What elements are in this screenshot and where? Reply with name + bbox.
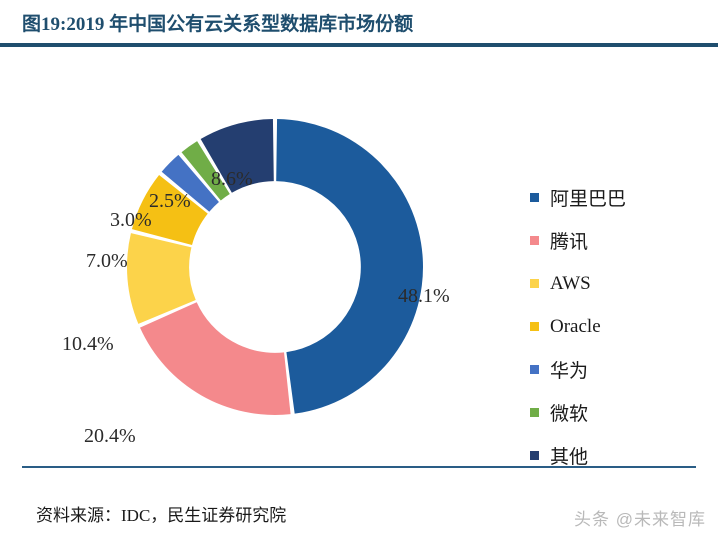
data-label: 20.4% <box>84 425 136 448</box>
donut-slice[interactable] <box>276 119 423 414</box>
chart-area: 48.1%20.4%10.4%7.0%3.0%2.5%8.6% 阿里巴巴腾讯AW… <box>0 50 718 458</box>
data-label: 10.4% <box>62 333 114 356</box>
title-divider <box>0 43 718 47</box>
donut-chart-svg <box>120 112 430 422</box>
legend-swatch-icon <box>530 451 539 460</box>
legend-item-label: AWS <box>550 273 591 295</box>
legend-item[interactable]: 腾讯 <box>530 219 700 262</box>
legend-swatch-icon <box>530 408 539 417</box>
legend-item[interactable]: 微软 <box>530 391 700 434</box>
watermark: 头条 @未来智库 <box>574 505 706 530</box>
legend-item-label: 其他 <box>550 442 588 469</box>
page-title: 图19:2019 年中国公有云关系型数据库市场份额 <box>22 9 413 36</box>
data-label: 7.0% <box>86 250 128 273</box>
bottom-band <box>0 535 718 544</box>
legend-item-label: 微软 <box>550 399 588 426</box>
footer-divider <box>22 466 696 468</box>
legend-item-label: 阿里巴巴 <box>550 184 626 211</box>
donut-slice[interactable] <box>140 302 291 415</box>
data-label: 2.5% <box>149 190 191 213</box>
legend-swatch-icon <box>530 279 539 288</box>
legend-swatch-icon <box>530 236 539 245</box>
legend-item[interactable]: 其他 <box>530 434 700 477</box>
legend-item-label: 腾讯 <box>550 227 588 254</box>
data-label: 48.1% <box>398 285 450 308</box>
legend-item-label: Oracle <box>550 316 601 338</box>
legend-swatch-icon <box>530 322 539 331</box>
donut-slice-group <box>127 119 423 415</box>
data-label: 3.0% <box>110 209 152 232</box>
title-block: 图19:2019 年中国公有云关系型数据库市场份额 <box>0 0 718 50</box>
legend-swatch-icon <box>530 365 539 374</box>
data-label: 8.6% <box>211 168 253 191</box>
legend-item[interactable]: AWS <box>530 262 700 305</box>
source-note: 资料来源：IDC，民生证券研究院 <box>36 501 286 526</box>
donut-chart <box>120 112 430 422</box>
legend-swatch-icon <box>530 193 539 202</box>
legend-item[interactable]: 华为 <box>530 348 700 391</box>
legend-item-label: 华为 <box>550 356 588 383</box>
chart-legend: 阿里巴巴腾讯AWSOracle华为微软其他 <box>530 176 700 477</box>
legend-item[interactable]: 阿里巴巴 <box>530 176 700 219</box>
legend-item[interactable]: Oracle <box>530 305 700 348</box>
